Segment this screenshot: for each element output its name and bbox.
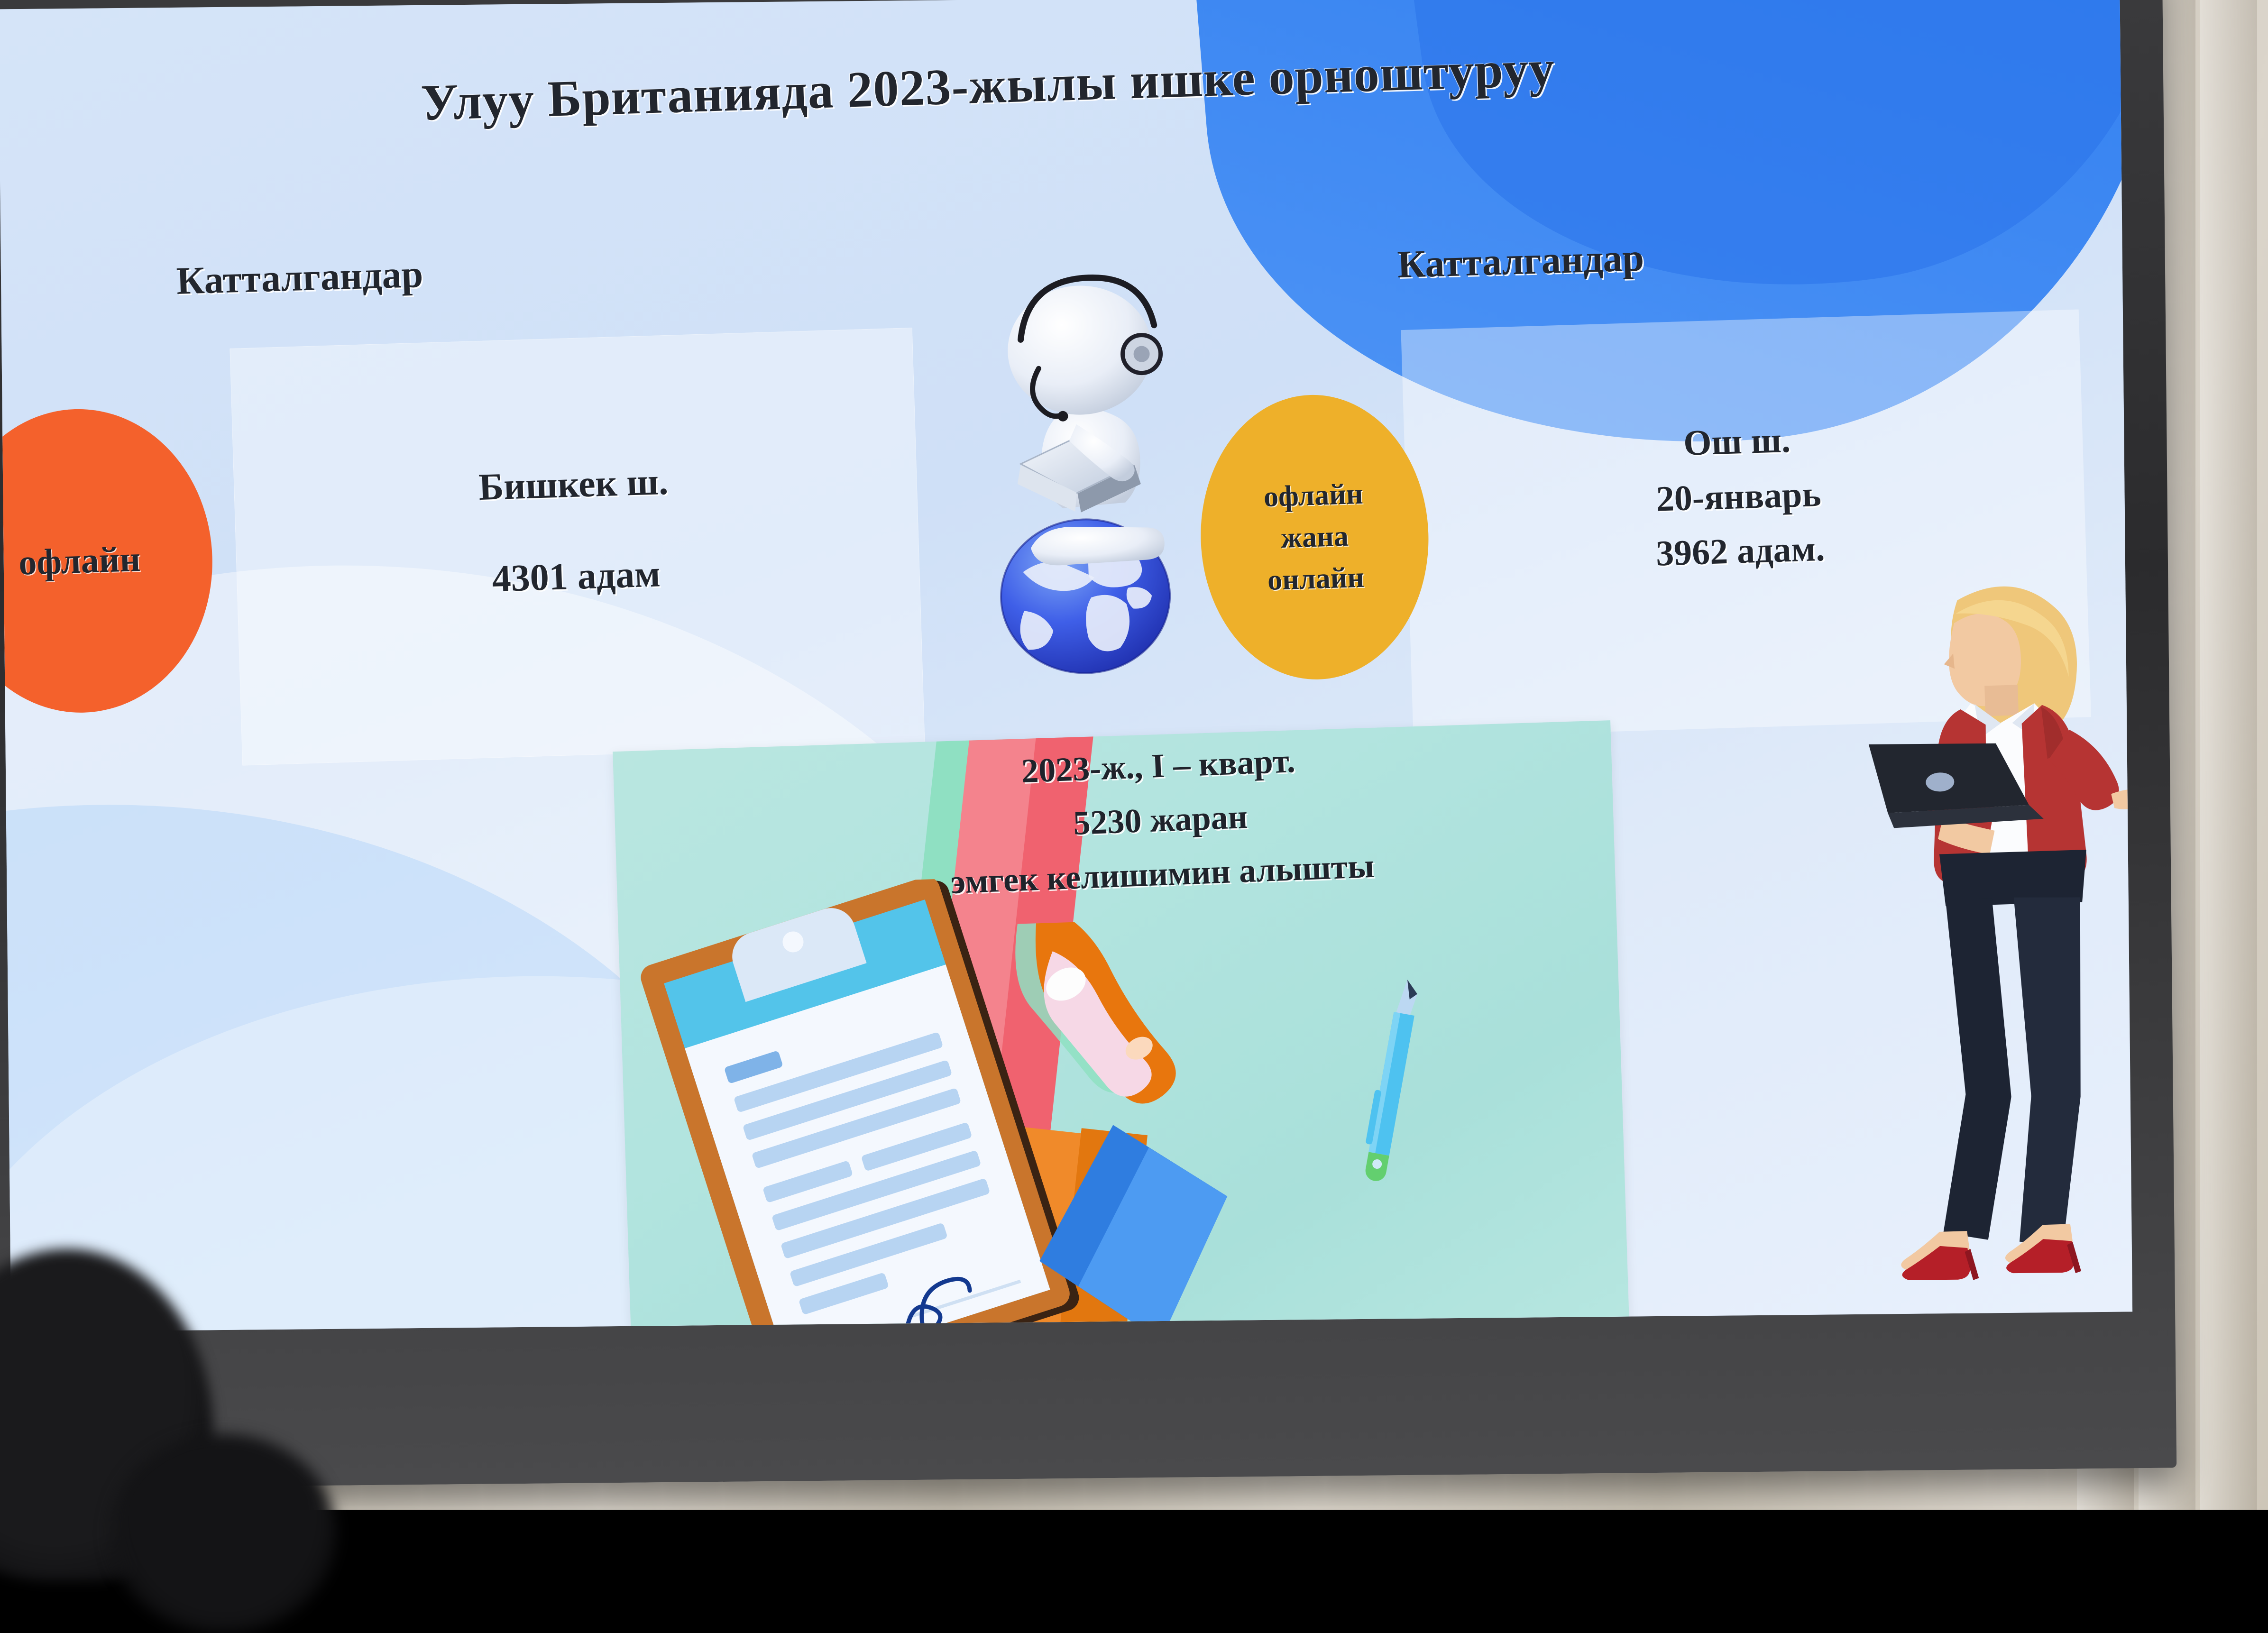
badge-line-1: офлайн — [1263, 473, 1364, 518]
contract-stat-text: 2023-ж., I – кварт. 5230 жаран эмгек кел… — [745, 724, 1576, 917]
person-with-headset-on-globe-icon — [961, 254, 1202, 687]
right-panel-body: Ош ш. 20-январь 3962 адам. — [1438, 405, 2040, 588]
offline-badge-label: офлайн — [18, 538, 141, 583]
offline-online-badge-ellipse: офлайн жана онлайн — [1196, 392, 1432, 683]
pen-icon — [1346, 972, 1438, 1202]
right-panel-heading: Катталгандар — [1397, 235, 1645, 287]
businesswoman-with-laptop-icon — [1814, 561, 2133, 1332]
window-blind-slat — [2200, 0, 2257, 1510]
audience-head-silhouette — [109, 1434, 337, 1633]
handshake-icon — [950, 915, 1325, 1332]
offline-online-badge-label: офлайн жана онлайн — [1263, 473, 1367, 601]
left-panel-body: Бишкек ш. 4301 адам — [267, 445, 883, 616]
presentation-slide: Улуу Британияда 2023-жылы ишке орноштуру… — [0, 0, 2132, 1332]
contract-illustration-panel: 2023-ж., I – кварт. 5230 жаран эмгек кел… — [613, 720, 1631, 1332]
badge-line-2: жана — [1264, 515, 1365, 560]
left-panel-heading: Катталгандар — [176, 252, 424, 303]
display-monitor: Улуу Британияда 2023-жылы ишке орноштуру… — [0, 0, 2176, 1489]
monitor-screen: Улуу Британияда 2023-жылы ишке орноштуру… — [0, 0, 2132, 1332]
badge-line-3: онлайн — [1266, 557, 1366, 601]
